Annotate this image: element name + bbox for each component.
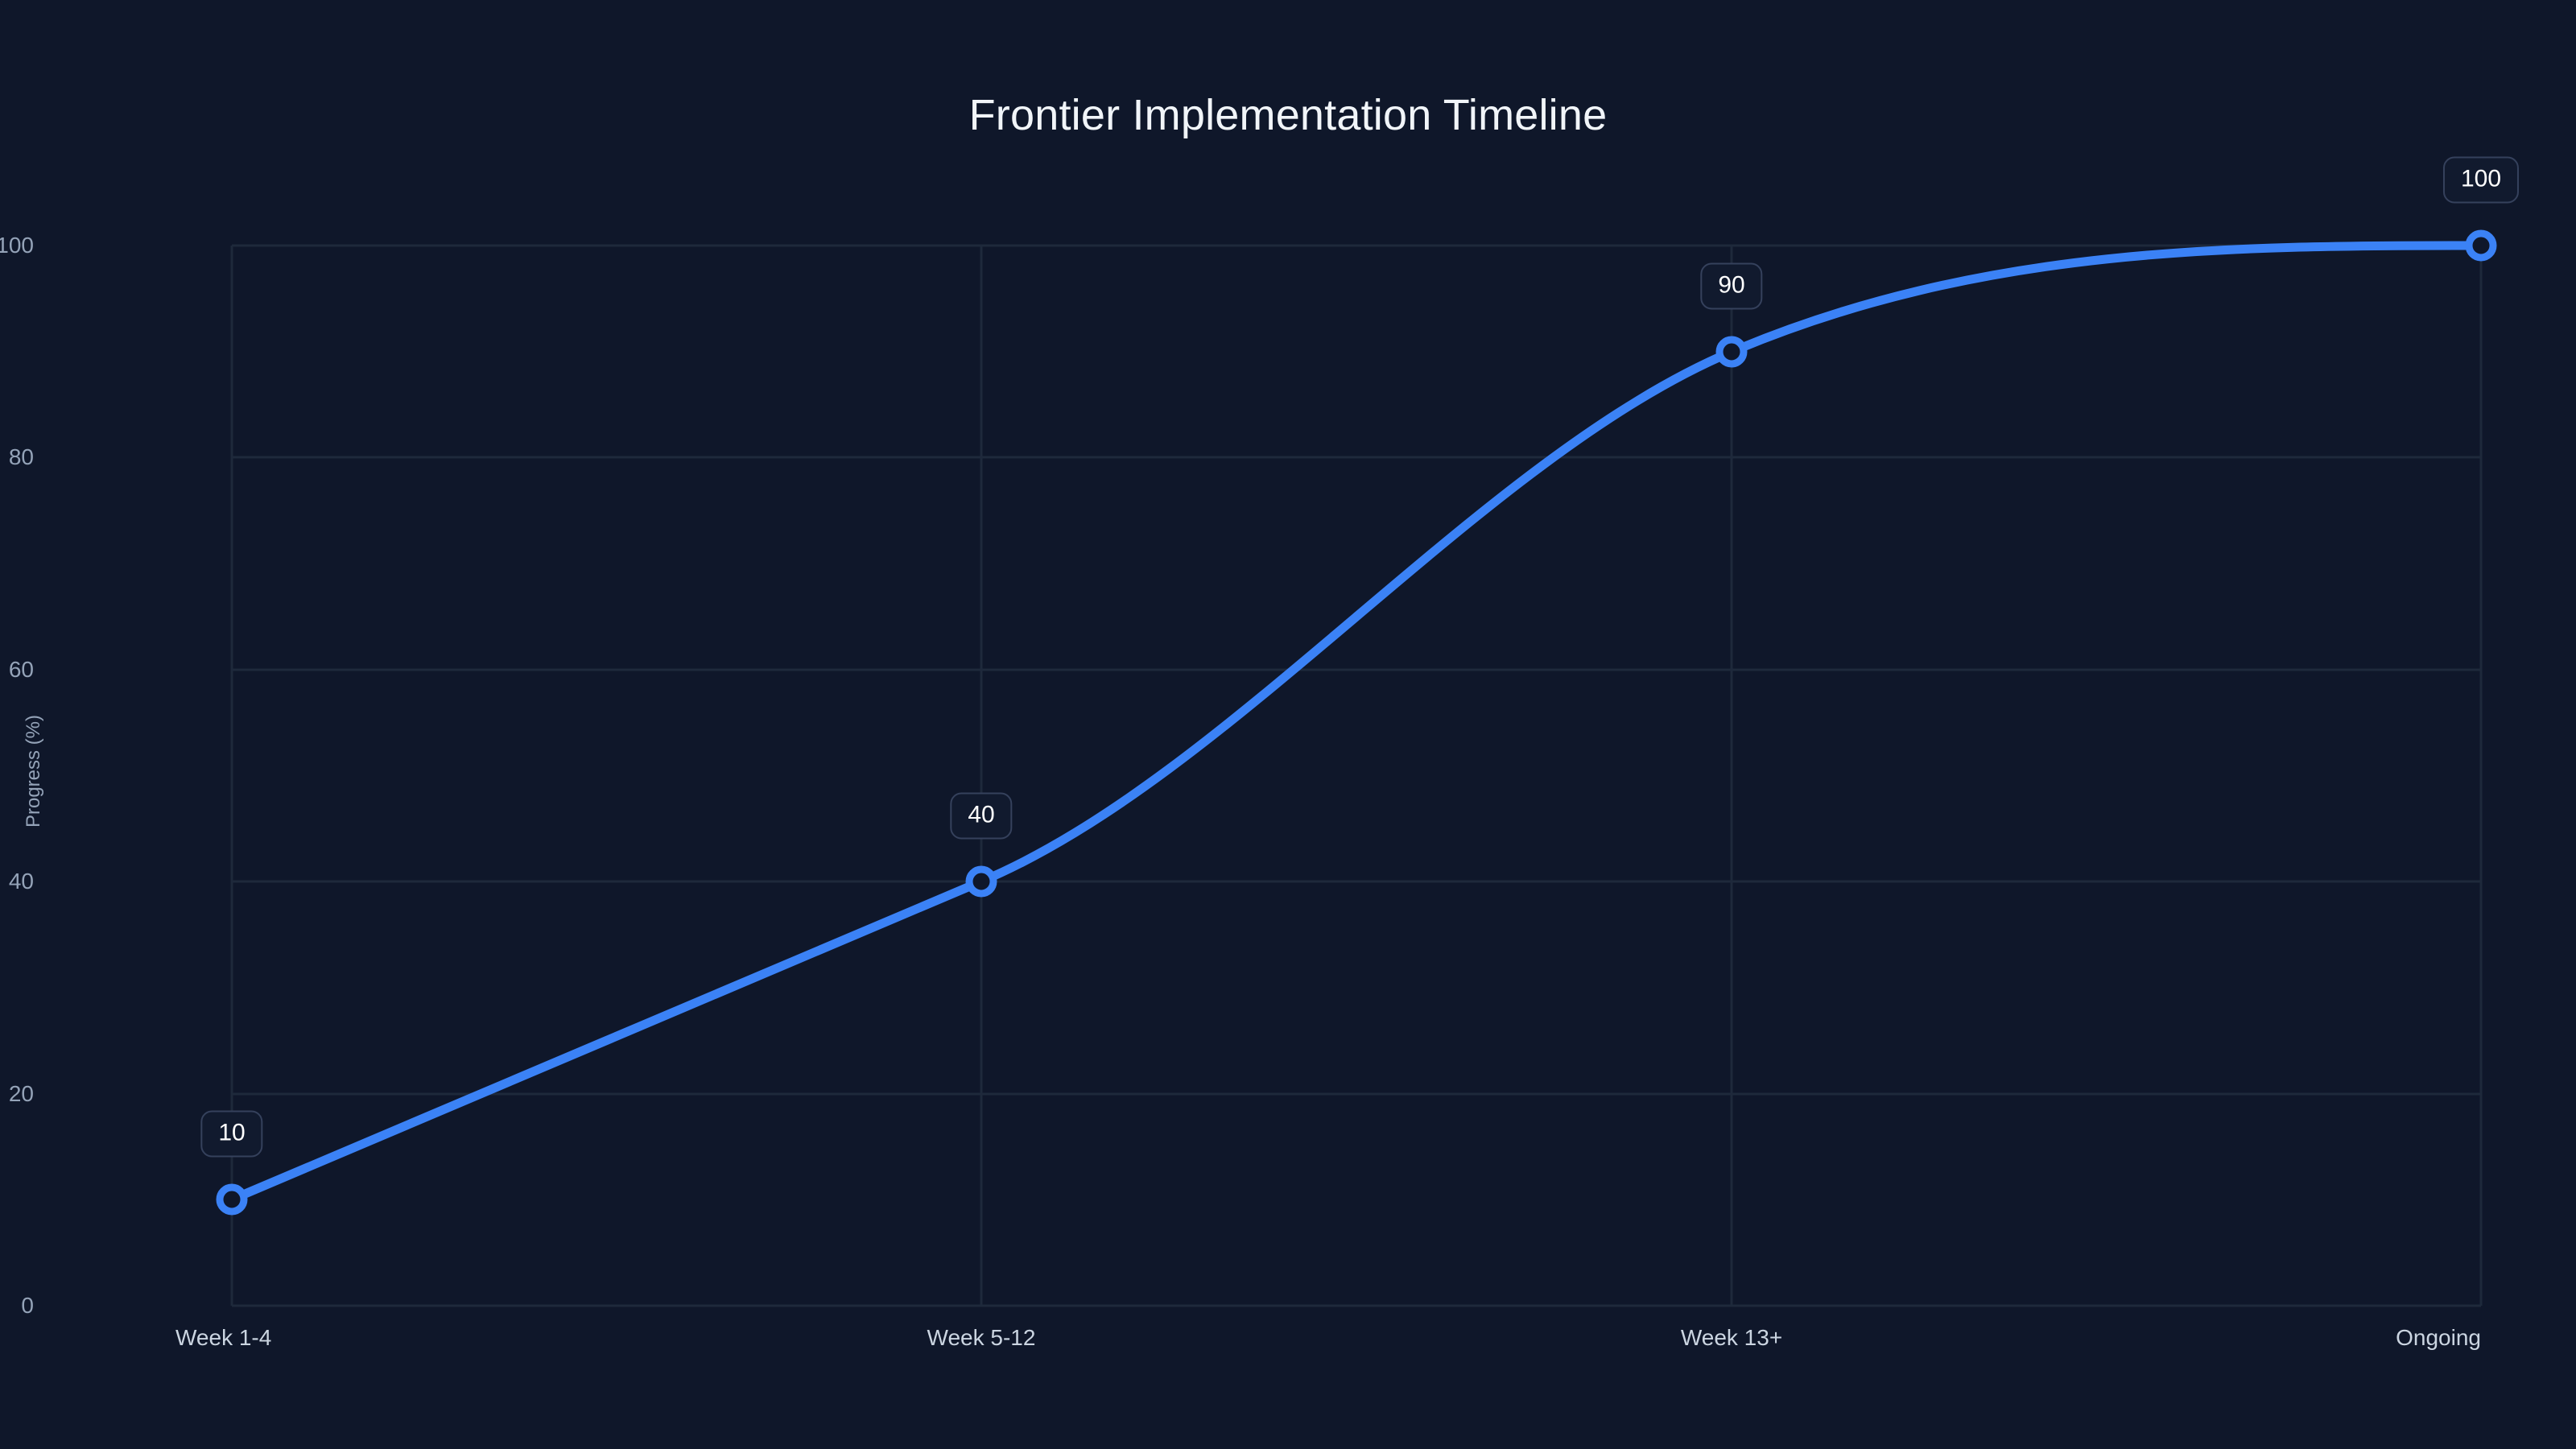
value-label-week-13: 90 bbox=[1700, 263, 1762, 310]
data-point-marker-week-5-12[interactable] bbox=[969, 869, 993, 894]
data-point-markers bbox=[220, 233, 2493, 1212]
value-label-week-1-4: 10 bbox=[200, 1111, 262, 1158]
grid-lines bbox=[232, 246, 2481, 1306]
chart-container: Frontier Implementation Timeline Progres… bbox=[0, 0, 2576, 1449]
progress-line bbox=[232, 246, 2481, 1199]
data-point-marker-week-1-4[interactable] bbox=[220, 1187, 244, 1212]
data-point-marker-ongoing[interactable] bbox=[2469, 233, 2493, 258]
data-point-marker-week-13[interactable] bbox=[1719, 340, 1744, 364]
value-label-ongoing: 100 bbox=[2443, 157, 2519, 204]
value-label-week-5-12: 40 bbox=[950, 793, 1012, 840]
plot-area bbox=[0, 0, 2576, 1449]
